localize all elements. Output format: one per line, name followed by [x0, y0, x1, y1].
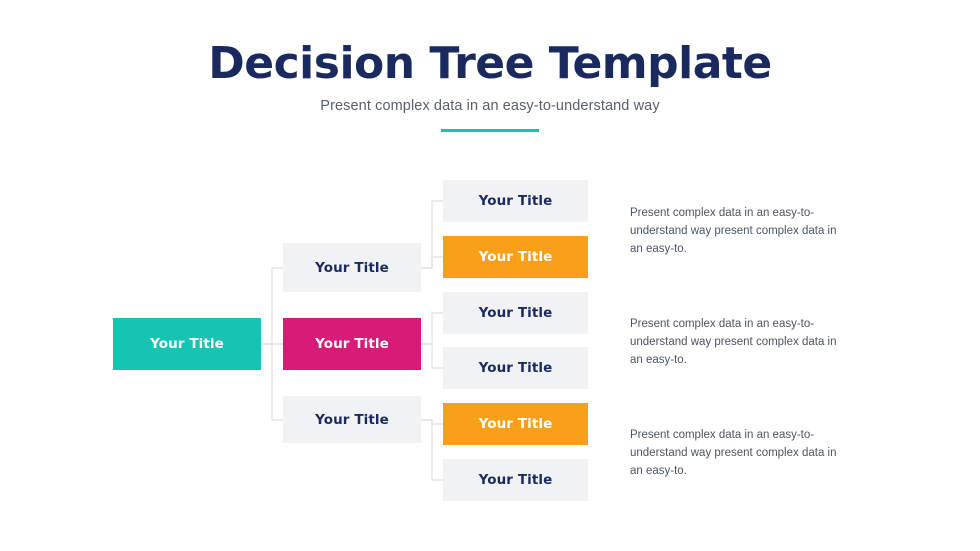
tree-node-leaf-1[interactable]: Your Title [443, 180, 588, 222]
tree-node-leaf-3[interactable]: Your Title [443, 292, 588, 334]
tree-node-root[interactable]: Your Title [113, 318, 261, 370]
tree-node-leaf-6[interactable]: Your Title [443, 459, 588, 501]
tree-node-branch-3[interactable]: Your Title [283, 396, 421, 443]
description-1: Present complex data in an easy-to-under… [630, 205, 852, 258]
tree-node-leaf-5[interactable]: Your Title [443, 403, 588, 445]
tree-node-branch-1[interactable]: Your Title [283, 243, 421, 292]
description-2: Present complex data in an easy-to-under… [630, 316, 852, 369]
tree-node-leaf-4[interactable]: Your Title [443, 347, 588, 389]
description-3: Present complex data in an easy-to-under… [630, 427, 852, 480]
tree-node-leaf-2[interactable]: Your Title [443, 236, 588, 278]
slide: Decision Tree Template Present complex d… [0, 0, 980, 551]
tree-node-branch-2[interactable]: Your Title [283, 318, 421, 370]
